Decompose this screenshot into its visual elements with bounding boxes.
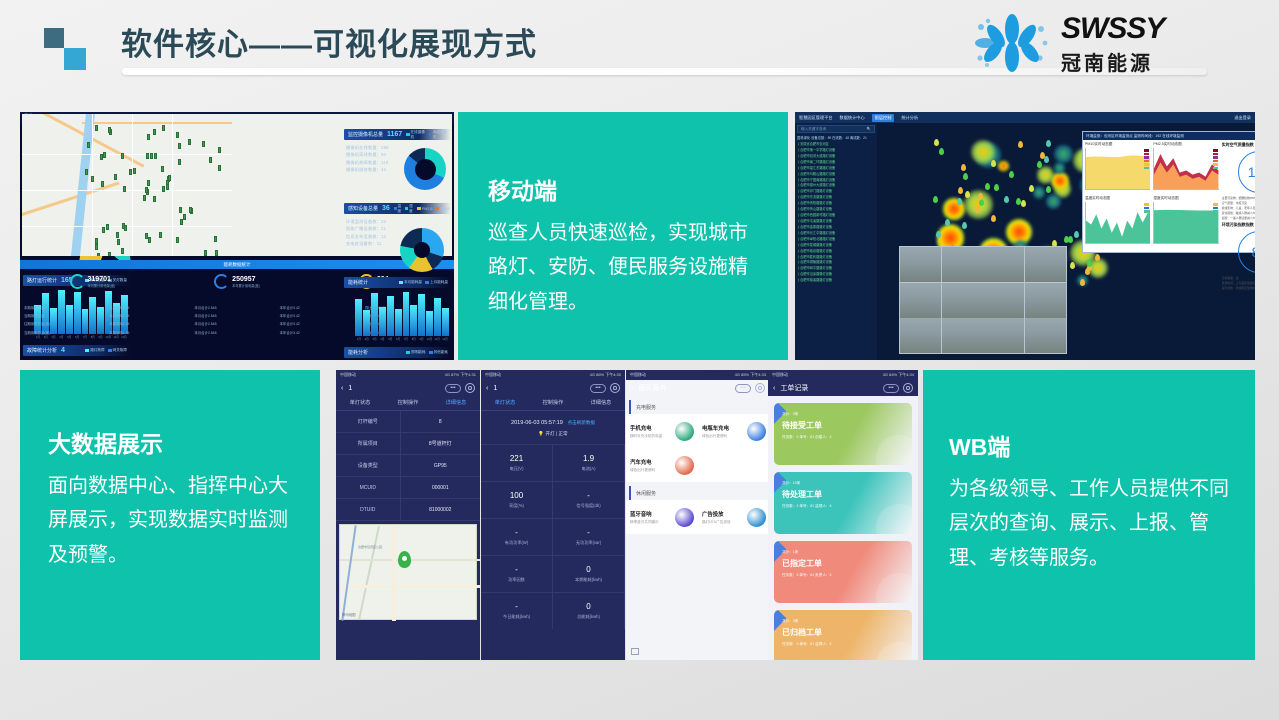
map-pin-icon[interactable] <box>945 219 950 226</box>
map-marker-icon[interactable] <box>85 169 88 175</box>
x-tick-label: 2月 <box>363 337 371 344</box>
x-tick-label: 6月 <box>394 337 402 344</box>
environment-monitor-window: 环境监测：包河区环境监测点 监测时间段：192 在线环境监测 — □ ✕ PM1… <box>1082 131 1255 253</box>
map-marker-icon[interactable] <box>143 195 146 201</box>
map-pin-icon[interactable] <box>1074 231 1079 238</box>
x-tick-label: 7月 <box>402 337 410 344</box>
map-pin-icon[interactable] <box>957 198 962 205</box>
logo-brand-en: SWSSY <box>1061 12 1164 46</box>
work-order-count: 共计：3条 <box>782 412 904 417</box>
progress-ring-icon <box>214 274 229 289</box>
legend-label: 上月能耗量 <box>430 280 448 285</box>
card-bigdata-body: 面向数据中心、指挥中心大屏展示，实现数据实时监测及预警。 <box>48 469 298 572</box>
map-marker-icon[interactable] <box>106 224 109 230</box>
metric-cell: 100亮度(%) <box>481 481 553 518</box>
tab-control[interactable]: 控制操作 <box>384 396 432 410</box>
services-body: 充电服务手机充电随时补充手机的电量电瓶车充电绿色出行更便利汽车充电绿色出行更便利… <box>626 400 770 534</box>
map-pin-icon[interactable] <box>1044 156 1049 163</box>
aqi2-title: 环境污染指数指数 <box>1222 222 1255 228</box>
tab-lamp-status[interactable]: 单灯状态 <box>336 396 384 410</box>
tab-lamp-status[interactable]: 单灯状态 <box>481 396 529 410</box>
gis-toolbar-analysis[interactable]: 统计分析 <box>901 115 918 121</box>
chart-legend <box>1144 149 1149 170</box>
map-pin-icon[interactable] <box>1037 161 1042 168</box>
map-pin-icon[interactable] <box>978 193 983 200</box>
map-marker-icon[interactable] <box>218 147 221 153</box>
stat-number: 319701 <box>88 276 116 283</box>
lamp-location-map[interactable]: 腾讯地图 合肥市包河区公园 <box>339 524 477 620</box>
web-gis-platform-screenshot: 智慧园区管理平台 数据统计中心 图层控制 统计分析 退出登录 输入关键字查询 🔍… <box>795 112 1255 360</box>
card-web: WB端 为各级领导、工作人员提供不同层次的查询、展示、上报、管理、考核等服务。 <box>923 370 1255 660</box>
detail-row: 灯杆编号8 <box>336 411 480 433</box>
map-marker-icon[interactable] <box>87 142 90 148</box>
footer-cell: 本期用电总量： <box>24 304 109 312</box>
bar <box>426 311 433 336</box>
camera-tile[interactable] <box>942 318 983 353</box>
map-marker-icon[interactable] <box>153 129 156 135</box>
stat-year: 250957 本年累计用电量(度) <box>214 274 260 289</box>
map-marker-icon[interactable] <box>147 134 150 140</box>
gis-sidebar: 输入关键字查询 🔍 园林绿化 设备总数：89 在线数：48 离线数：21 ├ 安… <box>795 123 877 360</box>
map-marker-icon[interactable] <box>121 248 124 254</box>
kpi-camera-total: 监控摄像机总量 1167 在线摄像机 离线摄像机 <box>344 129 451 140</box>
aqi-window-title: 环境监测：包河区环境监测点 监测时间段：192 在线环境监测 <box>1086 134 1184 139</box>
map-marker-icon[interactable] <box>176 237 179 243</box>
map-pin-icon[interactable] <box>958 187 963 194</box>
service-title: 汽车充电 <box>630 458 655 466</box>
x-tick-label: 12月 <box>441 337 449 344</box>
map-pin-icon[interactable] <box>994 184 999 191</box>
service-grid: 蓝牙音响畅享蓝牙共同娱乐广告投放路灯LED广告投放 <box>626 500 770 534</box>
phone-statusbar: 中国移动 4G 86% 下午4:30 <box>481 370 625 380</box>
service-title: 手机充电 <box>630 424 662 432</box>
map-marker-icon[interactable] <box>178 143 181 149</box>
chart-legend <box>1213 149 1218 170</box>
carrier-label: 中国移动 <box>340 372 356 378</box>
heat-blob <box>1033 186 1045 198</box>
bar <box>363 310 370 336</box>
map-marker-icon[interactable] <box>122 223 125 229</box>
page-title: 软件核心——可视化展现方式 <box>121 19 537 64</box>
map-marker-icon[interactable] <box>179 207 182 213</box>
legend-label: PM10 <box>440 207 449 211</box>
service-title: 广告投放 <box>702 510 731 518</box>
ad-display-icon <box>747 508 766 527</box>
map-marker-icon[interactable] <box>116 232 119 238</box>
bar-series <box>355 292 449 336</box>
map-pin-icon[interactable] <box>1068 236 1073 243</box>
gis-toolbar-platform[interactable]: 智慧园区管理平台 <box>799 115 833 121</box>
status-icons: 4G 85% 下午4:33 <box>735 372 766 378</box>
chart-plot <box>1085 148 1150 190</box>
logo-text: SWSSY 冠南能源 <box>1061 12 1164 76</box>
card-mobile-content: 移动端 巡查人员快速巡检，实现城市路灯、安防、便民服务设施精细化管理。 <box>488 172 764 319</box>
camera-tile[interactable] <box>1025 318 1066 353</box>
heat-blob <box>1051 172 1069 190</box>
stat-caption: 本年累计用电量(度) <box>232 283 260 288</box>
detail-key: DTUID <box>336 499 401 520</box>
map-pin-icon[interactable] <box>939 148 944 155</box>
map-marker-icon[interactable] <box>166 184 169 190</box>
map-marker-icon[interactable] <box>145 187 148 193</box>
bar <box>403 292 410 336</box>
map-pin-icon[interactable] <box>1018 141 1023 148</box>
map-marker-icon[interactable] <box>148 237 151 243</box>
camera-wall[interactable] <box>899 246 1067 354</box>
metric-cell: 0总能耗(kwh) <box>553 592 625 629</box>
phone-statusbar: 中国移动 4G 85% 下午4:33 <box>626 370 770 380</box>
aqi-title: 实时空气质量指数（AQI） <box>1222 142 1255 148</box>
kpi-legend: 路灯故障 网关故障 <box>85 348 127 353</box>
metric-value: - <box>515 528 518 537</box>
work-order-meta: 任务数：3 单号：81 监理人：4 <box>782 504 904 509</box>
work-order-title: 待接受工单 <box>782 420 904 431</box>
x-tick-label: 11月 <box>433 337 441 344</box>
map-pin-icon[interactable] <box>1021 200 1026 207</box>
chart-pm10: PM10实时动态图 <box>1085 142 1150 190</box>
legend-label: 路灯故障 <box>90 348 104 353</box>
map-marker-icon[interactable] <box>189 207 192 213</box>
map-pin-icon[interactable] <box>1016 198 1021 205</box>
phone-lamp-status: 中国移动 4G 86% 下午4:30 ‹ 1 ••• 单灯状态 控制操作 详细信… <box>481 370 625 660</box>
service-item[interactable]: 手机充电随时补充手机的电量 <box>626 414 698 448</box>
aqi-window-body: PM10实时动态图 温度实时动态图 <box>1085 142 1255 250</box>
map-marker-icon[interactable] <box>91 176 94 182</box>
gis-logout[interactable]: 退出登录 <box>1234 115 1251 121</box>
legend-label: 其他能耗 <box>434 350 448 355</box>
card-mobile-body: 巡查人员快速巡检，实现城市路灯、安防、便民服务设施精细化管理。 <box>488 216 764 319</box>
camera-tile[interactable] <box>900 318 941 353</box>
map-marker-icon[interactable] <box>215 250 218 256</box>
detail-key: 灯杆编号 <box>336 411 401 432</box>
camera-tile[interactable] <box>1025 247 1066 282</box>
x-tick-label: 3月 <box>371 337 379 344</box>
map-marker-icon[interactable] <box>214 236 217 242</box>
service-item[interactable]: 广告投放路灯LED广告投放 <box>698 500 770 534</box>
map-marker-icon[interactable] <box>162 125 165 131</box>
legend-label: 湿度 <box>409 204 414 214</box>
map-marker-icon[interactable] <box>121 153 124 159</box>
footer-cell: 本期用电1.25 <box>109 312 194 320</box>
pie-center-hole <box>414 242 430 258</box>
map-marker-icon[interactable] <box>180 219 183 225</box>
service-item[interactable]: 汽车充电绿色出行更便利 <box>626 448 698 482</box>
service-subtitle: 畅享蓝牙共同娱乐 <box>630 520 659 525</box>
aqi2-desc-line: 提示状态：持续稳定监测中 <box>1222 286 1255 291</box>
heat-blob <box>998 161 1009 172</box>
metric-value: 1.9 <box>583 454 594 463</box>
work-order-card[interactable]: 共计：3条已归档工单任务数：3 单号：81 监理人：4 <box>774 610 912 660</box>
map-pin-icon[interactable] <box>985 183 990 190</box>
tab-details[interactable]: 详细信息 <box>432 396 480 410</box>
card-web-body: 为各级领导、工作人员提供不同层次的查询、展示、上报、管理、考核等服务。 <box>949 472 1237 575</box>
chart-pm25: PM2.5实时动态图 <box>1153 142 1218 190</box>
metric-cell: -功率因数 <box>481 555 553 592</box>
close-circle-icon[interactable] <box>755 383 765 393</box>
map-marker-icon[interactable] <box>117 239 120 245</box>
bar <box>434 298 441 336</box>
kpi-legend: 照明能耗 其他能耗 <box>406 350 448 355</box>
service-subtitle: 绿色出行更便利 <box>702 434 729 439</box>
metric-label: 电流(A) <box>582 466 596 472</box>
gis-device-tree[interactable]: ├ 安徽省合肥市包河区├ 合肥市第一中学路灯设备├ 合肥市包河大道路灯设备├ 合… <box>797 142 875 284</box>
gis-search-placeholder: 输入关键字查询 <box>801 127 826 132</box>
detail-key: 设备类型 <box>336 455 401 476</box>
service-item[interactable]: 蓝牙音响畅享蓝牙共同娱乐 <box>626 500 698 534</box>
map-marker-icon[interactable] <box>95 238 98 244</box>
camera-tile[interactable] <box>983 247 1024 282</box>
map-pin-icon[interactable] <box>962 222 967 229</box>
detail-value: 000001 <box>401 477 480 498</box>
stat-number: 250957 <box>232 276 260 283</box>
legend-label: 本月能耗量 <box>404 280 422 285</box>
gis-tree-item[interactable]: ├ 合肥市裕溪路路灯设备 <box>797 278 875 284</box>
kpi-legend: 本月能耗量 上月能耗量 <box>399 280 448 285</box>
detail-row: MCUID000001 <box>336 477 480 499</box>
kpi-sensor-total: 感知设备总量 36 温度 湿度 PM2.5 PM10 <box>344 203 451 214</box>
map-marker-icon[interactable] <box>188 139 191 145</box>
phone-convenience-services: 中国移动 4G 85% 下午4:33 ‹ 便民服务 ••• 充电服务手机充电随时… <box>626 370 770 660</box>
map-pin-icon[interactable] <box>979 199 984 206</box>
footer-cell: 本期用电1.25 <box>109 329 194 337</box>
footer-cell: 当期用电总量(度)： <box>24 329 109 337</box>
service-item[interactable]: 电瓶车充电绿色出行更便利 <box>698 414 770 448</box>
map-pin-icon[interactable] <box>1009 171 1014 178</box>
tab-control[interactable]: 控制操作 <box>529 396 577 410</box>
map-marker-icon[interactable] <box>114 174 117 180</box>
gis-toolbar-layers[interactable]: 图层控制 <box>872 114 895 122</box>
tab-details[interactable]: 详细信息 <box>577 396 625 410</box>
map-marker-icon[interactable] <box>95 125 98 131</box>
map-marker-icon[interactable] <box>97 253 100 256</box>
map-marker-icon[interactable] <box>133 168 136 174</box>
detail-key: MCUID <box>336 477 401 498</box>
close-circle-icon[interactable] <box>903 383 913 393</box>
map-marker-icon[interactable] <box>218 165 221 171</box>
chart-title: PM10实时动态图 <box>1085 142 1150 147</box>
map-pin-icon[interactable] <box>1046 140 1051 147</box>
map-marker-icon[interactable] <box>209 157 212 163</box>
progress-ring-icon <box>70 274 85 289</box>
card-bigdata-content: 大数据展示 面向数据中心、指挥中心大屏展示，实现数据实时监测及预警。 <box>48 425 298 572</box>
status-icons: 4G 84% 下午4:34 <box>883 372 914 378</box>
x-tick-label: 10月 <box>425 337 433 344</box>
car-charge-icon <box>675 456 694 475</box>
camera-tile[interactable] <box>900 283 941 318</box>
refresh-link[interactable]: 点击刷新数据 <box>567 420 595 425</box>
kpi-label: 故障统计分析 <box>27 347 57 354</box>
gis-tree-header: 园林绿化 设备总数：89 在线数：48 离线数：21 <box>797 135 875 140</box>
map-marker-icon[interactable] <box>129 169 132 175</box>
close-circle-icon[interactable] <box>465 383 475 393</box>
map-marker-icon[interactable] <box>183 214 186 220</box>
camera-tile[interactable] <box>983 283 1024 318</box>
map-pin-icon[interactable] <box>963 173 968 180</box>
status-icons: 4G 87% 下午4:31 <box>445 372 476 378</box>
kpi-label: 能耗统计 <box>348 279 368 286</box>
legend-label: PM2.5 <box>422 207 432 211</box>
map-marker-icon[interactable] <box>108 127 111 133</box>
camera-tile[interactable] <box>1025 283 1066 318</box>
chart-humidity: 湿度实时动态图 <box>1153 196 1218 244</box>
footer-cell: 本期用电1.25 <box>109 304 194 312</box>
metric-label: 有功功率(W) <box>505 540 529 546</box>
stat-line: 智能广播设备数：21 <box>346 225 454 232</box>
footer-cell: 本月合计2.548 <box>194 304 279 312</box>
gis-toolbar-datacenter[interactable]: 数据统计中心 <box>840 115 865 121</box>
phone-lamp-detail: 中国移动 4G 87% 下午4:31 ‹ 1 ••• 单灯状态 控制操作 详细信… <box>336 370 480 660</box>
more-dots-icon[interactable]: ••• <box>883 384 899 393</box>
timestamp-value: 2019-06-03 05:57:19 <box>511 420 563 426</box>
map-marker-icon[interactable] <box>162 186 165 192</box>
back-chevron-icon[interactable]: ‹ <box>631 385 633 392</box>
map-marker-icon[interactable] <box>176 132 179 138</box>
camera-tile[interactable] <box>983 318 1024 353</box>
metric-label: 电压(V) <box>510 466 524 472</box>
fault-area-chart <box>23 358 130 360</box>
aqi-desc-line: 提醒：一般人群适量减少户外运动 <box>1222 216 1255 221</box>
map-marker-icon[interactable] <box>202 141 205 147</box>
section-header: 休闲服务 <box>629 486 770 500</box>
stat-line: 环境监测设备数：23 <box>346 218 454 225</box>
bar <box>355 299 362 336</box>
kpi-energy-analysis: 能耗分析 照明能耗 其他能耗 <box>344 347 451 358</box>
detail-value: 81000002 <box>401 499 480 520</box>
work-order-card[interactable]: 共计：3条待接受工单任务数：3 单号：81 创建人：4 <box>774 403 912 465</box>
metric-cell: -无功功率(var) <box>553 518 625 555</box>
work-order-card[interactable]: 共计：10条待处理工单任务数：3 单号：81 监理人：4 <box>774 472 912 534</box>
map-marker-icon[interactable] <box>154 153 157 159</box>
footer-cell: 本月合计2.548 <box>194 320 279 328</box>
map-pin-icon[interactable] <box>1070 262 1075 269</box>
map-pin-icon[interactable] <box>975 206 980 213</box>
map-pin-icon[interactable] <box>1004 196 1009 203</box>
chart-plot <box>1085 202 1150 244</box>
camera-donut-block: 摄像机在线数量：256 摄像机离线数量：94 摄像机故障数量：118 摄像机维修… <box>341 142 454 200</box>
lamp-detail-table: 灯杆编号8所属项目8号道杆灯设备类型GP95MCUID000001DTUID81… <box>336 411 480 521</box>
map-pin-icon[interactable] <box>1029 185 1034 192</box>
chart-plot <box>1153 148 1218 190</box>
gis-map-canvas[interactable]: 设备详细信息 设备类型：智慧路灯 运行状态：正常 所属区域：包河区 安装时间：2… <box>877 123 1255 360</box>
metric-label: 亮度(%) <box>509 503 524 509</box>
service-title: 蓝牙音响 <box>630 510 659 518</box>
footer-cell: 本月合计2.548 <box>194 329 279 337</box>
phone-nav-title: 1 <box>348 385 352 392</box>
back-chevron-icon[interactable]: ‹ <box>773 385 775 392</box>
aqi2-value-circle: 82 <box>1238 231 1255 273</box>
map-pin-icon[interactable] <box>961 164 966 171</box>
work-order-card[interactable]: 共计：1条已指定工单任务数：3 单号：81 负责人：4 <box>774 541 912 603</box>
gis-search-input[interactable]: 输入关键字查询 🔍 <box>797 125 875 133</box>
map-marker-icon[interactable] <box>150 153 153 159</box>
map-marker-icon[interactable] <box>159 232 162 238</box>
close-circle-icon[interactable] <box>610 383 620 393</box>
map-pin-icon[interactable] <box>933 196 938 203</box>
phone-statusbar: 中国移动 4G 84% 下午4:34 <box>768 370 918 380</box>
camera-donut-chart <box>404 148 446 190</box>
phone-statusbar: 中国移动 4G 87% 下午4:31 <box>336 370 480 380</box>
lamp-metrics-grid: 221电压(V)1.9电流(A)100亮度(%)-信号强度(db)-有功功率(W… <box>481 444 625 629</box>
lamp-bulb-icon: 💡 <box>538 431 544 436</box>
aqi2-description: 污染等级：良 监测时间：上午最新监测点 提示状态：持续稳定监测中 <box>1222 276 1255 291</box>
legend-label: 网关故障 <box>113 348 127 353</box>
kpi-value: 36 <box>382 205 390 212</box>
card-web-content: WB端 为各级领导、工作人员提供不同层次的查询、展示、上报、管理、考核等服务。 <box>949 428 1237 575</box>
camera-tile[interactable] <box>942 283 983 318</box>
metric-value: 221 <box>510 454 523 463</box>
metric-value: - <box>587 491 590 500</box>
detail-row: 所属项目8号道杆灯 <box>336 433 480 455</box>
service-subtitle: 绿色出行更便利 <box>630 468 655 473</box>
x-tick-label: 5月 <box>386 337 394 344</box>
work-order-count: 共计：1条 <box>782 550 904 555</box>
map-marker-icon[interactable] <box>103 152 106 158</box>
work-order-title: 待处理工单 <box>782 489 904 500</box>
back-chevron-icon[interactable]: ‹ <box>341 385 343 392</box>
map-marker-icon[interactable] <box>123 186 126 192</box>
phone-tabs: 单灯状态 控制操作 详细信息 <box>336 396 480 411</box>
map-marker-icon[interactable] <box>153 196 156 202</box>
more-dots-icon[interactable]: ••• <box>445 384 461 393</box>
kpi-label: 监控摄像机总量 <box>348 131 383 138</box>
map-pin-icon[interactable] <box>991 215 996 222</box>
map-marker-icon[interactable] <box>161 166 164 172</box>
status-icons: 4G 86% 下午4:30 <box>590 372 621 378</box>
kpi-energy-stats: 能耗统计 本月能耗量 上月能耗量 <box>344 277 451 288</box>
metric-cell: 221电压(V) <box>481 444 553 481</box>
map-pin-icon[interactable] <box>934 139 939 146</box>
aqi-col-right: 实时空气质量指数（AQI） 152 主要污染物：细颗粒物(PM2.5) 空气质量… <box>1222 142 1255 291</box>
map-marker-icon[interactable] <box>101 181 104 187</box>
heat-blob <box>1046 194 1061 209</box>
map-pin-icon[interactable] <box>1046 186 1051 193</box>
heat-blob <box>1054 145 1072 163</box>
lamp-state: 💡 开灯 | 正常 <box>481 431 625 444</box>
map-marker-icon[interactable] <box>108 252 111 256</box>
phone-work-orders: 中国移动 4G 84% 下午4:34 ‹ 工单记录 ••• 共计：3条待接受工单… <box>768 370 918 660</box>
work-order-card-list: 共计：3条待接受工单任务数：3 单号：81 创建人：4共计：10条待处理工单任务… <box>768 403 918 660</box>
camera-tile[interactable] <box>900 247 941 282</box>
map-pin-icon[interactable] <box>991 160 996 167</box>
metric-label: 总能耗(kwh) <box>577 614 600 620</box>
map-marker-icon[interactable] <box>204 250 207 256</box>
map-marker-icon[interactable] <box>147 180 150 186</box>
square-dark-icon <box>44 28 64 48</box>
phone-nav-title: 1 <box>493 385 497 392</box>
chart-legend <box>1213 203 1218 214</box>
metric-cell: 0本期能耗(kwh) <box>553 555 625 592</box>
bar <box>387 296 394 336</box>
x-tick-label: 9月 <box>418 337 426 344</box>
chart-plot <box>1153 202 1218 244</box>
work-order-meta: 任务数：3 单号：81 监理人：4 <box>782 642 904 647</box>
stat-line: 摄像机在线数量：256 <box>346 144 454 151</box>
camera-tile[interactable] <box>942 247 983 282</box>
map-marker-icon[interactable] <box>178 159 181 165</box>
map-place-label: 合肥市包河区公园 <box>358 545 382 549</box>
map-marker-icon[interactable] <box>95 244 98 250</box>
more-dots-icon[interactable]: ••• <box>735 384 751 393</box>
bluetooth-speaker-icon <box>675 508 694 527</box>
metric-cell: -有功功率(W) <box>481 518 553 555</box>
more-dots-icon[interactable]: ••• <box>590 384 606 393</box>
map-pin-icon[interactable] <box>965 191 970 198</box>
back-chevron-icon[interactable]: ‹ <box>486 385 488 392</box>
work-order-meta: 任务数：3 单号：81 负责人：4 <box>782 573 904 578</box>
map-marker-icon[interactable] <box>102 227 105 233</box>
magnifier-icon[interactable]: 🔍 <box>867 127 871 131</box>
bar <box>442 308 449 336</box>
